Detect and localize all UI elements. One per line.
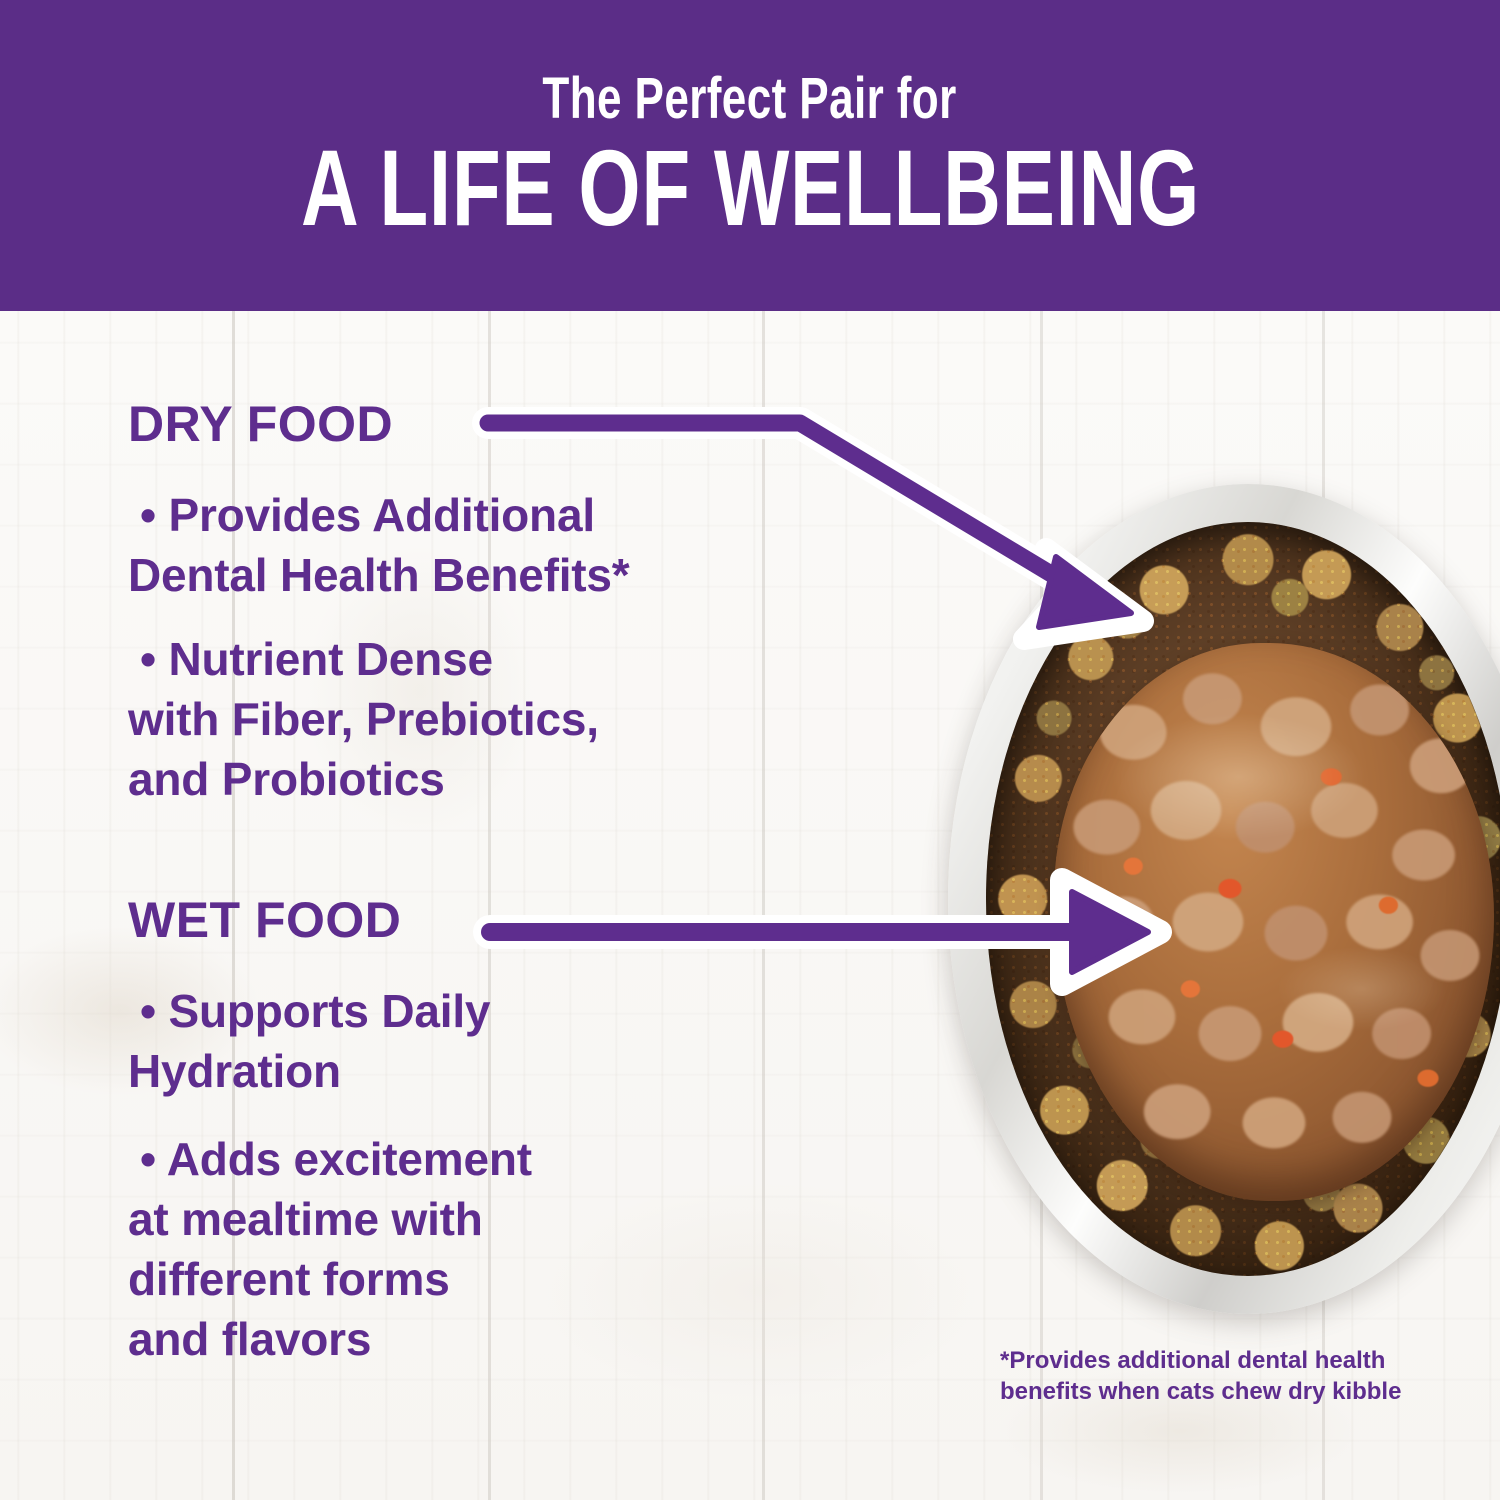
dry-food-bullet-2: • Nutrient Dense with Fiber, Prebiotics,… — [128, 629, 788, 809]
wet-food-gravy — [1054, 643, 1494, 1201]
bullet-line: and Probiotics — [128, 749, 788, 809]
bullet-line: • Provides Additional — [140, 485, 788, 545]
bullet-line: with Fiber, Prebiotics, — [128, 689, 788, 749]
wet-food-heading: WET FOOD — [128, 891, 401, 949]
bullet-line: Hydration — [128, 1041, 788, 1101]
gravy-gloss-highlight — [1054, 643, 1494, 1201]
header-banner: The Perfect Pair for A LIFE OF WELLBEING — [0, 0, 1500, 311]
bullet-line: • Nutrient Dense — [140, 629, 788, 689]
pet-food-bowl-image — [930, 450, 1500, 1330]
bowl-interior — [986, 522, 1500, 1276]
bullet-line: different forms — [128, 1249, 788, 1309]
header-subtitle: The Perfect Pair for — [543, 70, 957, 128]
dry-food-heading: DRY FOOD — [128, 395, 393, 453]
bullet-line: • Adds excitement — [140, 1129, 788, 1189]
header-title: A LIFE OF WELLBEING — [300, 134, 1199, 242]
bullet-line: at mealtime with — [128, 1189, 788, 1249]
bullet-line: and flavors — [128, 1309, 788, 1369]
footnote-line-2: benefits when cats chew dry kibble — [1000, 1376, 1420, 1407]
bullet-line: • Supports Daily — [140, 981, 788, 1041]
dry-food-bullet-1: • Provides Additional Dental Health Bene… — [128, 485, 788, 605]
footnote: *Provides additional dental health benef… — [1000, 1345, 1420, 1407]
bullet-line: Dental Health Benefits* — [128, 545, 788, 605]
wet-food-bullet-1: • Supports Daily Hydration — [128, 981, 788, 1101]
promotional-graphic: The Perfect Pair for A LIFE OF WELLBEING… — [0, 0, 1500, 1500]
footnote-line-1: *Provides additional dental health — [1000, 1345, 1420, 1376]
benefits-copy-column: DRY FOOD • Provides Additional Dental He… — [0, 311, 820, 1500]
wet-food-bullet-2: • Adds excitement at mealtime with diffe… — [128, 1129, 788, 1369]
